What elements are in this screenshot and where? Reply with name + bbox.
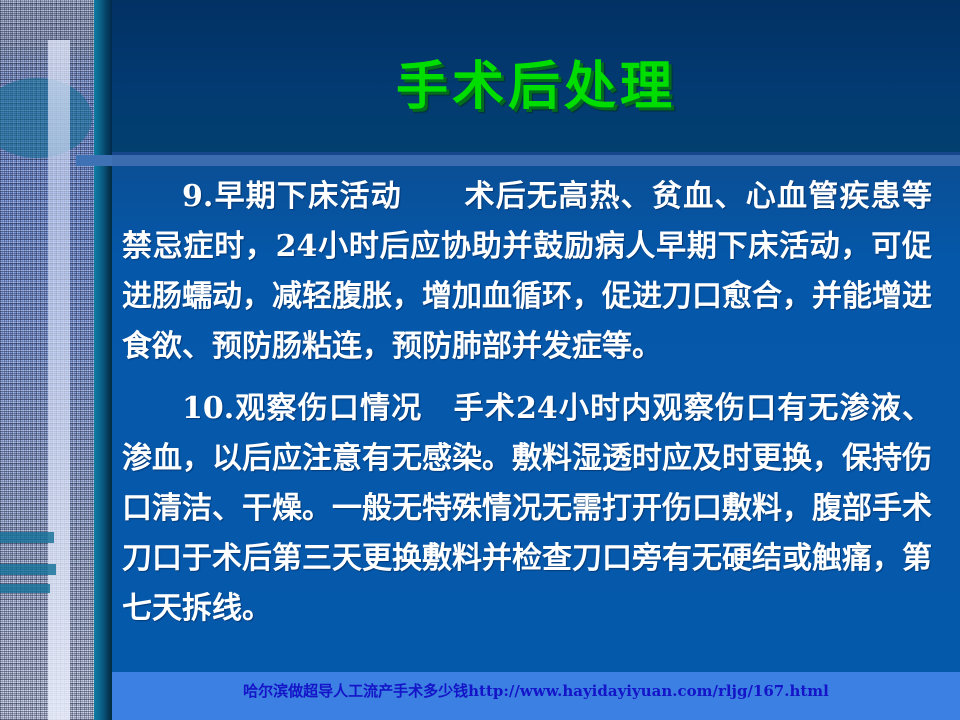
sidebar-teal-bar bbox=[0, 564, 56, 575]
sidebar-teal-bar bbox=[0, 584, 50, 593]
sidebar-edge-gradient-top bbox=[94, 0, 112, 155]
footer-label: 哈尔滨做超导人工流产手术多少钱 bbox=[243, 682, 468, 700]
footer-url[interactable]: http://www.hayidayiyuan.com/rljg/167.htm… bbox=[468, 682, 829, 700]
body-paragraph: 10.观察伤口情况 手术24小时内观察伤口有无渗液、渗血，以后应注意有无感染。敷… bbox=[122, 384, 932, 634]
sidebar-light-column bbox=[48, 40, 70, 720]
slide-content: 9.早期下床活动 术后无高热、贫血、心血管疾患等禁忌症时，24小时后应协助并鼓励… bbox=[112, 172, 946, 640]
sidebar-divider-tab bbox=[76, 155, 112, 166]
divider-band bbox=[0, 155, 960, 166]
footer-bar: 哈尔滨做超导人工流产手术多少钱http://www.hayidayiyuan.c… bbox=[112, 672, 960, 720]
slide: 手术后处理 9.早期下床活动 术后无高热、贫血、心血管疾患等禁忌症时，24小时后… bbox=[0, 0, 960, 720]
body-paragraph: 9.早期下床活动 术后无高热、贫血、心血管疾患等禁忌症时，24小时后应协助并鼓励… bbox=[122, 172, 932, 372]
title-area: 手术后处理 bbox=[112, 58, 960, 115]
slide-title: 手术后处理 bbox=[396, 58, 676, 115]
sidebar-teal-bar bbox=[0, 532, 54, 543]
footer-watermark[interactable]: 哈尔滨做超导人工流产手术多少钱http://www.hayidayiyuan.c… bbox=[243, 680, 829, 701]
